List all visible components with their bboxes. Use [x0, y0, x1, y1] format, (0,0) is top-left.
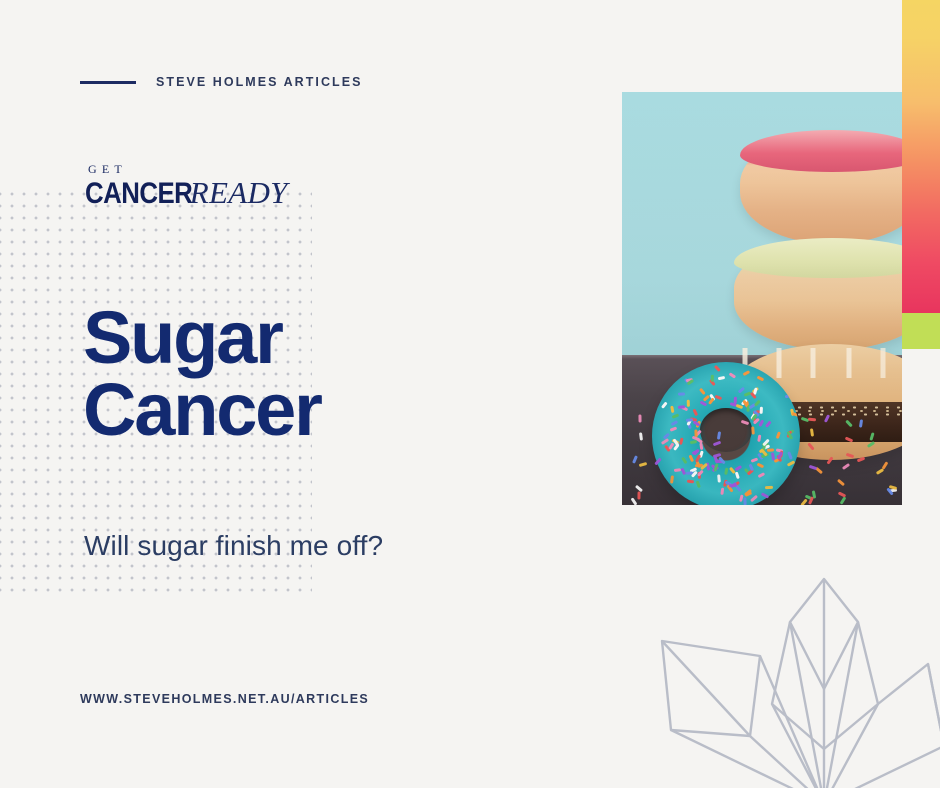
brand-word-get: GET — [88, 163, 288, 175]
brand-lockup: GET CANCER READY — [85, 163, 288, 209]
brand-main-row: CANCER READY — [85, 177, 288, 209]
donut-photo — [622, 92, 902, 505]
brand-word-ready: READY — [190, 177, 288, 208]
footer-url: WWW.STEVEHOLMES.NET.AU/ARTICLES — [80, 692, 369, 706]
kicker-label: STEVE HOLMES ARTICLES — [156, 75, 363, 89]
headline-line-2: Cancer — [83, 374, 321, 447]
kicker-rule-icon — [80, 81, 136, 84]
poster-canvas: STEVE HOLMES ARTICLES GET CANCER READY S… — [0, 0, 940, 788]
page-title: Sugar Cancer — [83, 302, 321, 447]
kicker: STEVE HOLMES ARTICLES — [80, 75, 363, 89]
subtitle: Will sugar finish me off? — [84, 530, 383, 562]
crystal-gem-line-art — [628, 514, 940, 788]
gradient-accent-bar — [902, 0, 940, 313]
brand-word-cancer: CANCER — [85, 179, 192, 209]
accent-block-green — [902, 313, 940, 349]
headline-line-1: Sugar — [83, 296, 282, 379]
scattered-sprinkles — [622, 409, 902, 505]
